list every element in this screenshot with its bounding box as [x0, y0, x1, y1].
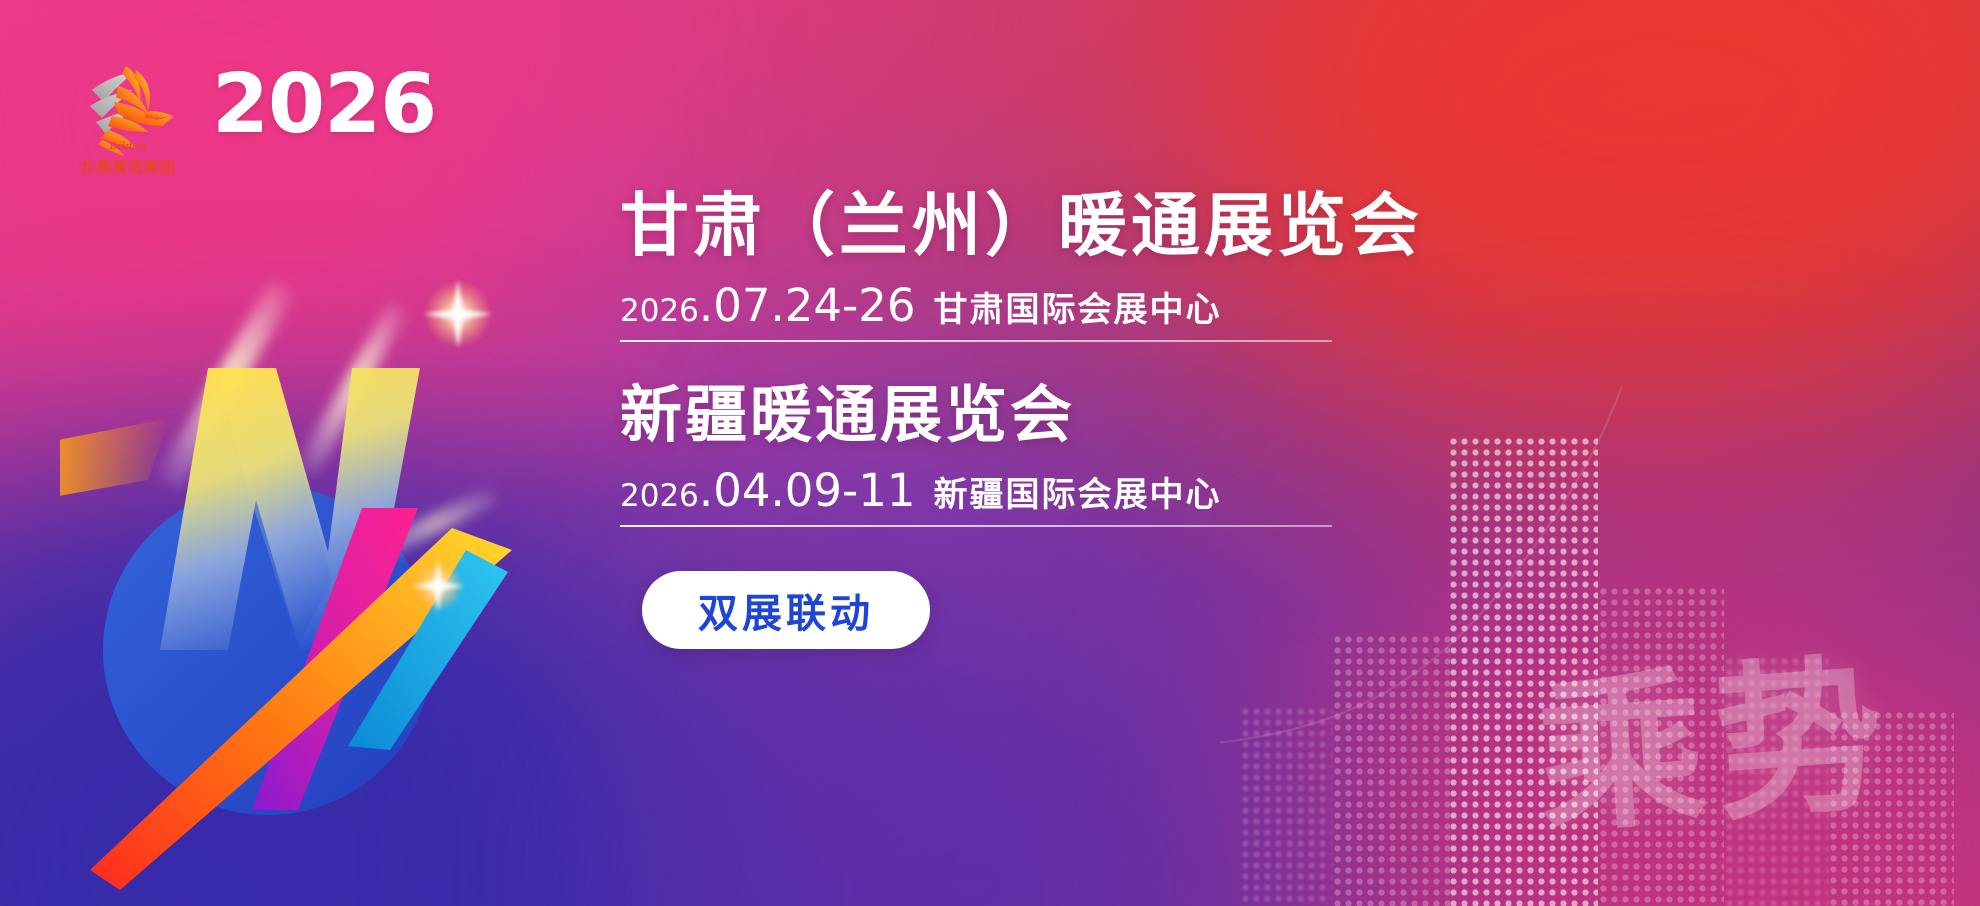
event-venue-1: 甘肃国际会展中心 [934, 282, 1222, 331]
event-meta-2: 2026 .04.09-11 新疆国际会展中心 [620, 464, 1680, 517]
abstract-n-artwork [60, 250, 530, 890]
brand-name-en: Beizhan [72, 140, 184, 152]
event-date-1: .07.24-26 [699, 279, 916, 332]
year-badge: 2026 [212, 64, 436, 146]
dual-exhibition-badge[interactable]: 双展联动 [642, 571, 930, 649]
section-spacer [620, 342, 1680, 382]
event-content: 甘肃（兰州）暖通展览会 2026 .07.24-26 甘肃国际会展中心 新疆暖通… [620, 190, 1680, 649]
divider-2 [620, 525, 1332, 527]
event-year-2: 2026 [620, 478, 699, 514]
event-venue-2: 新疆国际会展中心 [934, 467, 1222, 516]
event-date-2: .04.09-11 [699, 464, 916, 517]
event-title-1: 甘肃（兰州）暖通展览会 [620, 190, 1680, 263]
event-meta-1: 2026 .07.24-26 甘肃国际会展中心 [620, 279, 1680, 332]
event-year-1: 2026 [620, 293, 699, 329]
brand-logo[interactable]: Beizhan 北展展览集团 2026 [72, 56, 432, 191]
background-glow-violet [620, 606, 1320, 906]
exhibition-banner: 乘势 [0, 0, 1980, 906]
event-title-2: 新疆暖通展览会 [620, 382, 1680, 448]
brand-name-cn: 北展展览集团 [72, 156, 184, 177]
